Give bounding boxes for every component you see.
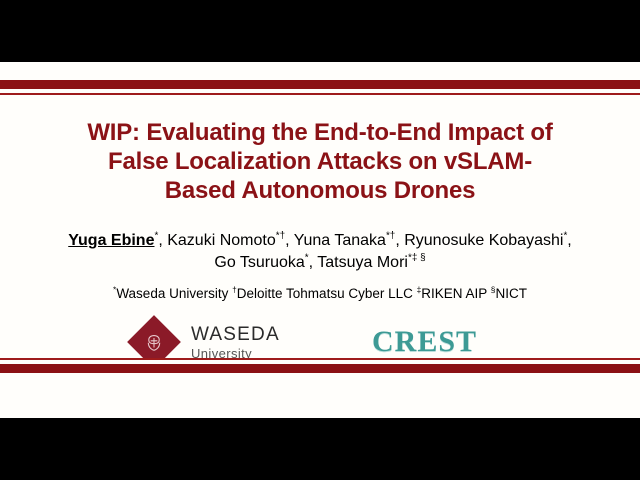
author-2-name: , Kazuki Nomoto [158,232,275,249]
rule-thin-line [0,93,640,95]
lead-author-name: Yuga Ebine [68,232,154,249]
author-6-name: Tatsuya Mori [317,254,408,271]
decorative-rule-bottom [0,358,640,373]
author-5-name: Go Tsuruoka [214,254,304,271]
waseda-crest-icon [145,333,164,352]
letterbox-top [0,0,640,62]
author-6-marks: *‡ § [408,253,426,264]
slide-title: WIP: Evaluating the End-to-End Impact of… [0,118,640,205]
author-4-name: , Ryunosuke Kobayashi [395,232,563,249]
affiliation-riken: RIKEN AIP [421,286,491,301]
author-list: Yuga Ebine*, Kazuki Nomoto*†, Yuna Tanak… [0,230,640,274]
rule-thick-line [0,80,640,89]
author-line-1-tail: , [567,232,571,249]
presentation-slide: WIP: Evaluating the End-to-End Impact of… [0,62,640,418]
video-frame: WIP: Evaluating the End-to-End Impact of… [0,0,640,480]
decorative-rule-top [0,80,640,95]
waseda-wordmark: WASEDA University [191,325,280,360]
author-3-name: , Yuna Tanaka [285,232,386,249]
author-3-marks: *† [386,231,395,242]
author-2-marks: *† [276,231,285,242]
title-line-3: Based Autonomous Drones [0,176,640,205]
affiliation-nict: NICT [495,286,527,301]
author-line-2: Go Tsuruoka*, Tatsuya Mori*‡ § [0,252,640,274]
author-line-1: Yuga Ebine*, Kazuki Nomoto*†, Yuna Tanak… [0,230,640,252]
letterbox-bottom [0,418,640,480]
title-line-2: False Localization Attacks on vSLAM- [0,147,640,176]
crest-wordmark-text: CREST [372,325,477,359]
affiliation-line: *Waseda University †Deloitte Tohmatsu Cy… [0,286,640,301]
title-line-1: WIP: Evaluating the End-to-End Impact of [0,118,640,147]
author-separator: , [309,254,318,271]
affiliation-deloitte: Deloitte Tohmatsu Cyber LLC [237,286,417,301]
waseda-name-text: WASEDA [191,325,280,344]
affiliation-waseda: Waseda University [116,286,232,301]
rule-thick-line [0,364,640,373]
